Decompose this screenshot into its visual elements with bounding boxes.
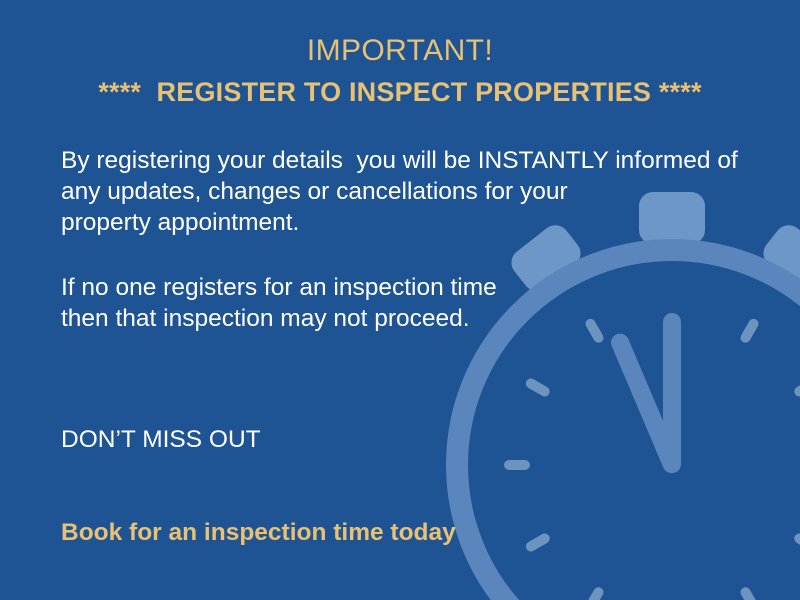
cta-book-inspection: Book for an inspection time today [61,517,456,548]
page-subtitle: **** REGISTER TO INSPECT PROPERTIES **** [0,78,800,108]
cta-dont-miss-out: DON’T MISS OUT [61,424,456,455]
text-layer: IMPORTANT! **** REGISTER TO INSPECT PROP… [0,0,800,600]
slide-canvas: IMPORTANT! **** REGISTER TO INSPECT PROP… [0,0,800,600]
body-paragraph-registering: By registering your details you will be … [61,145,738,238]
body-paragraph-no-registration: If no one registers for an inspection ti… [61,272,497,334]
page-title: IMPORTANT! [0,34,800,67]
call-to-action-block: DON’T MISS OUT Book for an inspection ti… [61,362,456,600]
